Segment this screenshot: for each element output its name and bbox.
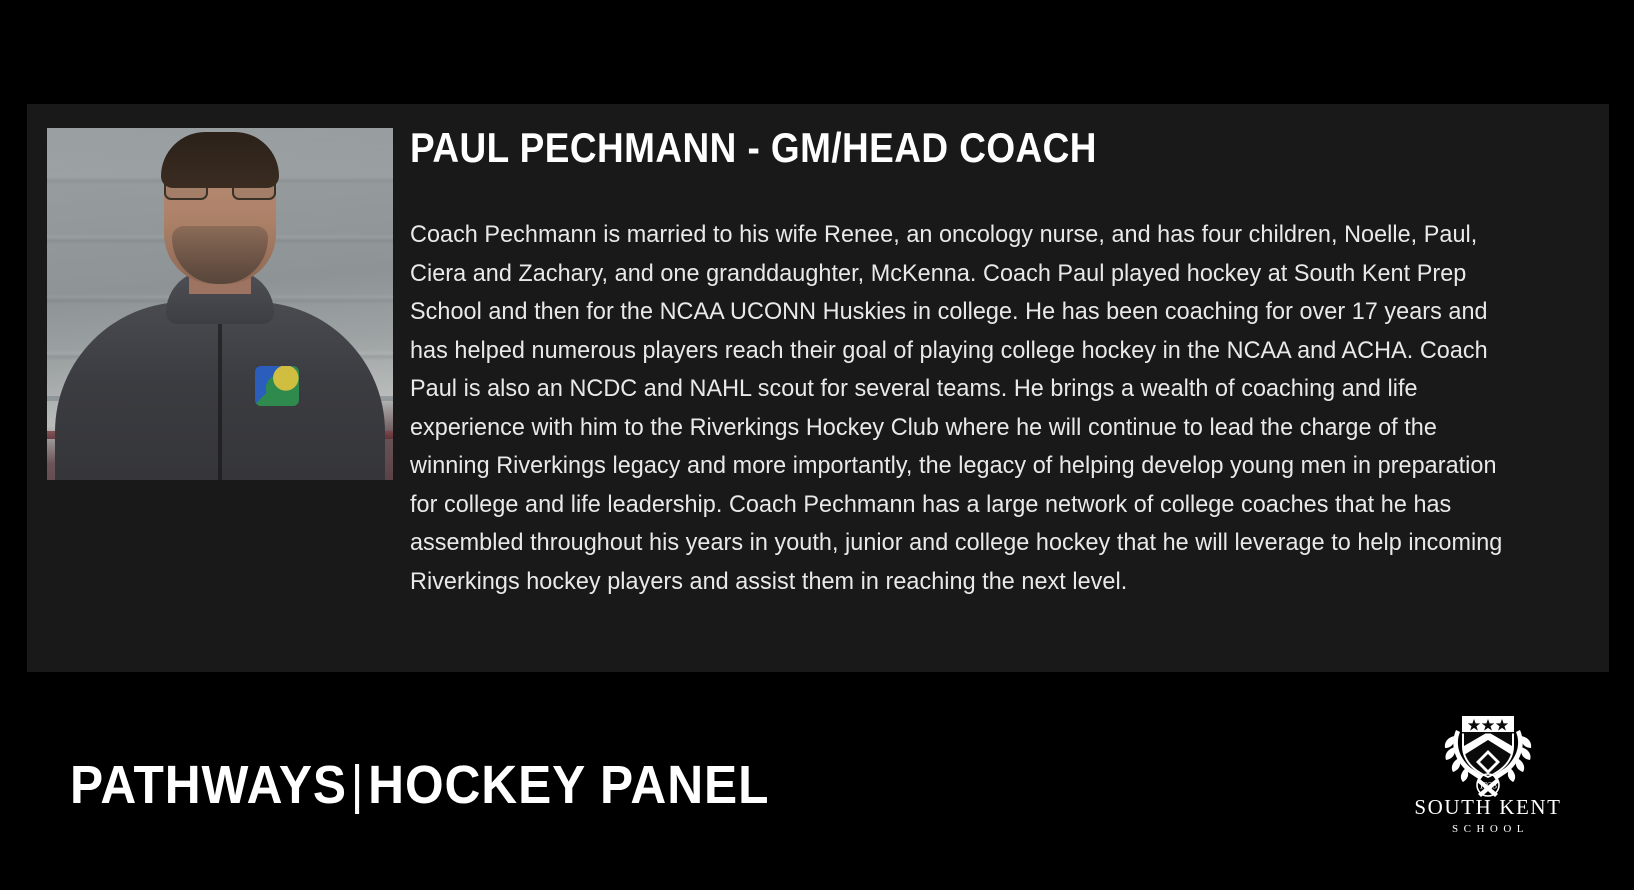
school-logo-subtitle: SCHOOL [1408,824,1568,835]
crest-founded-year: 1923 [1479,781,1498,791]
footer-title-secondary: HOCKEY PANEL [368,755,769,815]
photo-team-crest-icon [255,366,299,406]
coach-headshot-photo [47,128,393,480]
school-logo: 1923 SOUTH KENT SCHOOL [1408,706,1568,840]
photo-person [47,128,393,480]
school-logo-name: SOUTH KENT [1408,797,1568,818]
coach-name-title: PAUL PECHMANN - GM/HEAD COACH [410,127,1097,169]
photo-jacket-zipper [218,300,222,480]
presentation-slide: PAUL PECHMANN - GM/HEAD COACH Coach Pech… [0,0,1634,890]
school-crest-icon: 1923 [1428,706,1548,798]
photo-hair [161,132,279,188]
coach-bio-card: PAUL PECHMANN - GM/HEAD COACH Coach Pech… [27,104,1609,672]
school-crest-wrap: 1923 [1408,706,1568,798]
footer-title-primary: PATHWAYS [70,755,347,815]
coach-bio-text: Coach Pechmann is married to his wife Re… [410,216,1506,601]
footer-title: PATHWAYS|HOCKEY PANEL [70,758,769,812]
footer-title-separator: | [347,758,368,812]
